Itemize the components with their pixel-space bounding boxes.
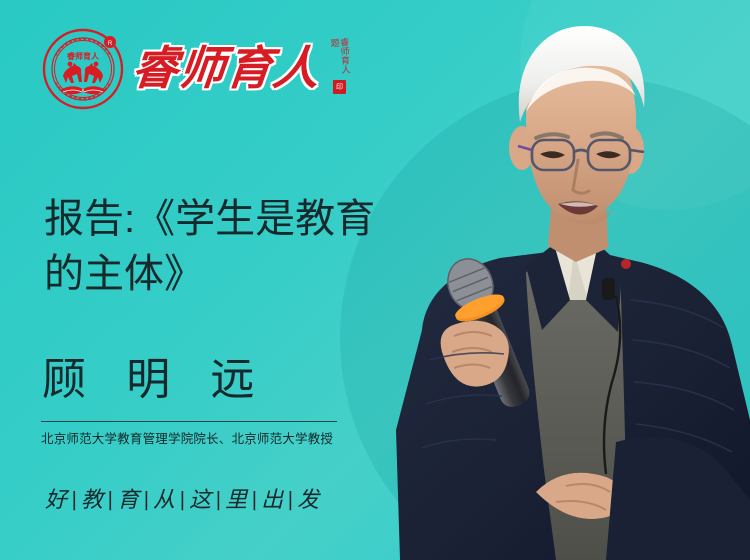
tagline-separator: | [284, 490, 296, 510]
tagline-char: 出 [260, 489, 284, 511]
tagline-char: 教 [80, 489, 104, 511]
tagline-separator: | [140, 490, 152, 510]
lapel-pin [621, 259, 631, 269]
tagline-char: 发 [296, 489, 320, 511]
brand-logo[interactable]: 睿师育人 R 睿师育人 睿师育人题 印 [42, 28, 349, 110]
tagline-separator: | [104, 490, 116, 510]
tagline-char: 这 [188, 489, 212, 511]
lapel-mic [602, 278, 615, 300]
tagline-char: 好 [44, 489, 68, 511]
tagline-separator: | [212, 490, 224, 510]
brand-wordmark: 睿师育人 [130, 46, 323, 92]
tagline-char: 育 [116, 489, 140, 511]
tagline-char: 里 [224, 489, 248, 511]
speaker-name: 顾 明 远 [42, 358, 268, 402]
tagline-char: 从 [152, 489, 176, 511]
speaker-role: 北京师范大学教育管理学院院长、北京师范大学教授 [41, 428, 333, 447]
tagline-separator: | [248, 490, 260, 510]
svg-text:睿师育人: 睿师育人 [67, 51, 100, 61]
signature-column: 睿师育人题 [329, 38, 350, 79]
crest-icon: 睿师育人 R [42, 28, 124, 110]
brand-tagline: 好|教|育|从|这|里|出|发 [44, 489, 320, 511]
svg-text:R: R [108, 41, 113, 47]
tagline-separator: | [176, 490, 188, 510]
tagline-separator: | [68, 490, 80, 510]
poster-canvas: 睿师育人 R 睿师育人 睿师育人题 印 [0, 0, 750, 560]
report-title: 报告:《学生是教育的主体》 [44, 192, 394, 302]
brand-signature: 睿师育人题 印 [330, 38, 349, 100]
name-divider [41, 421, 337, 422]
seal-stamp-icon: 印 [333, 80, 346, 94]
